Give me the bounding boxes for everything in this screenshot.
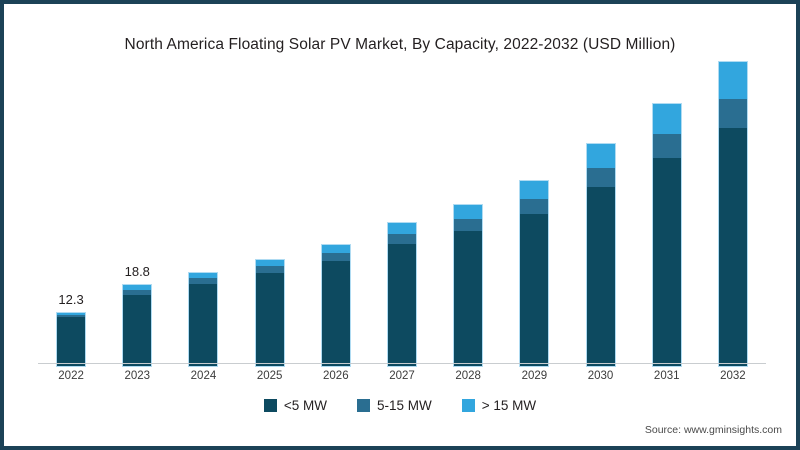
x-axis-label-2024: 2024 <box>173 370 233 382</box>
bar-segment[interactable] <box>587 187 615 366</box>
stacked-bar[interactable] <box>520 181 548 367</box>
stacked-bar[interactable] <box>123 285 151 366</box>
x-axis-label-2030: 2030 <box>571 370 631 382</box>
bar-group[interactable] <box>587 74 615 366</box>
x-axis-label-2023: 2023 <box>107 370 167 382</box>
bar-group[interactable] <box>322 74 350 366</box>
bar-segment[interactable] <box>653 134 681 158</box>
bar-segment[interactable] <box>57 317 85 366</box>
source-note: Source: www.gminsights.com <box>645 424 782 436</box>
legend-label: <5 MW <box>284 398 327 413</box>
bar-group[interactable] <box>520 74 548 366</box>
bar-segment[interactable] <box>322 245 350 253</box>
bar-segment[interactable] <box>454 219 482 231</box>
legend-label: > 15 MW <box>482 398 536 413</box>
stacked-bar[interactable] <box>57 313 85 366</box>
x-axis-line <box>38 363 766 364</box>
bar-group[interactable] <box>719 74 747 366</box>
x-axis-label-2026: 2026 <box>306 370 366 382</box>
bar-value-label: 12.3 <box>58 292 83 307</box>
legend-item-0[interactable]: <5 MW <box>264 398 327 413</box>
stacked-bar[interactable] <box>454 205 482 366</box>
bar-segment[interactable] <box>322 253 350 261</box>
legend-label: 5-15 MW <box>377 398 432 413</box>
bar-segment[interactable] <box>189 284 217 366</box>
bar-segment[interactable] <box>520 214 548 366</box>
legend-item-2[interactable]: > 15 MW <box>462 398 536 413</box>
bar-segment[interactable] <box>520 199 548 214</box>
bar-segment[interactable] <box>256 273 284 366</box>
chart-title: North America Floating Solar PV Market, … <box>4 36 796 54</box>
bar-value-label: 18.8 <box>125 264 150 279</box>
legend-swatch-icon <box>264 399 277 412</box>
bar-group[interactable] <box>388 74 416 366</box>
bar-group[interactable] <box>454 74 482 366</box>
stacked-bar[interactable] <box>388 223 416 366</box>
stacked-bar[interactable] <box>719 62 747 366</box>
legend-item-1[interactable]: 5-15 MW <box>357 398 432 413</box>
bar-segment[interactable] <box>520 181 548 199</box>
x-axis-label-2027: 2027 <box>372 370 432 382</box>
bar-group[interactable] <box>256 74 284 366</box>
chart-legend: <5 MW5-15 MW> 15 MW <box>4 398 796 413</box>
bar-segment[interactable] <box>587 144 615 168</box>
x-axis-label-2025: 2025 <box>240 370 300 382</box>
legend-swatch-icon <box>462 399 475 412</box>
x-axis-label-2022: 2022 <box>41 370 101 382</box>
chart-container: North America Floating Solar PV Market, … <box>0 0 800 450</box>
bar-group[interactable]: 18.8 <box>123 74 151 366</box>
stacked-bar[interactable] <box>189 273 217 366</box>
stacked-bar[interactable] <box>256 260 284 366</box>
bar-segment[interactable] <box>653 158 681 366</box>
bar-segment[interactable] <box>388 244 416 366</box>
bar-segment[interactable] <box>719 99 747 128</box>
bar-segment[interactable] <box>256 266 284 273</box>
x-axis-tick-labels: 2022202320242025202620272028202920302031… <box>38 370 766 388</box>
bar-segment[interactable] <box>454 231 482 366</box>
bar-segment[interactable] <box>454 205 482 219</box>
stacked-bar[interactable] <box>322 245 350 366</box>
stacked-bar[interactable] <box>653 104 681 366</box>
x-axis-label-2032: 2032 <box>703 370 763 382</box>
bar-segment[interactable] <box>388 223 416 234</box>
legend-swatch-icon <box>357 399 370 412</box>
plot-area: 12.318.8 <box>38 74 766 366</box>
stacked-bar[interactable] <box>587 144 615 366</box>
x-axis-label-2031: 2031 <box>637 370 697 382</box>
bar-segment[interactable] <box>719 62 747 99</box>
bar-group[interactable] <box>653 74 681 366</box>
x-axis-label-2029: 2029 <box>504 370 564 382</box>
bar-segment[interactable] <box>388 234 416 244</box>
x-axis-label-2028: 2028 <box>438 370 498 382</box>
bar-segment[interactable] <box>587 168 615 188</box>
bar-segment[interactable] <box>123 295 151 366</box>
bar-segment[interactable] <box>653 104 681 134</box>
bar-group[interactable] <box>189 74 217 366</box>
bar-group[interactable]: 12.3 <box>57 74 85 366</box>
bar-segment[interactable] <box>322 261 350 366</box>
bar-segment[interactable] <box>719 128 747 366</box>
